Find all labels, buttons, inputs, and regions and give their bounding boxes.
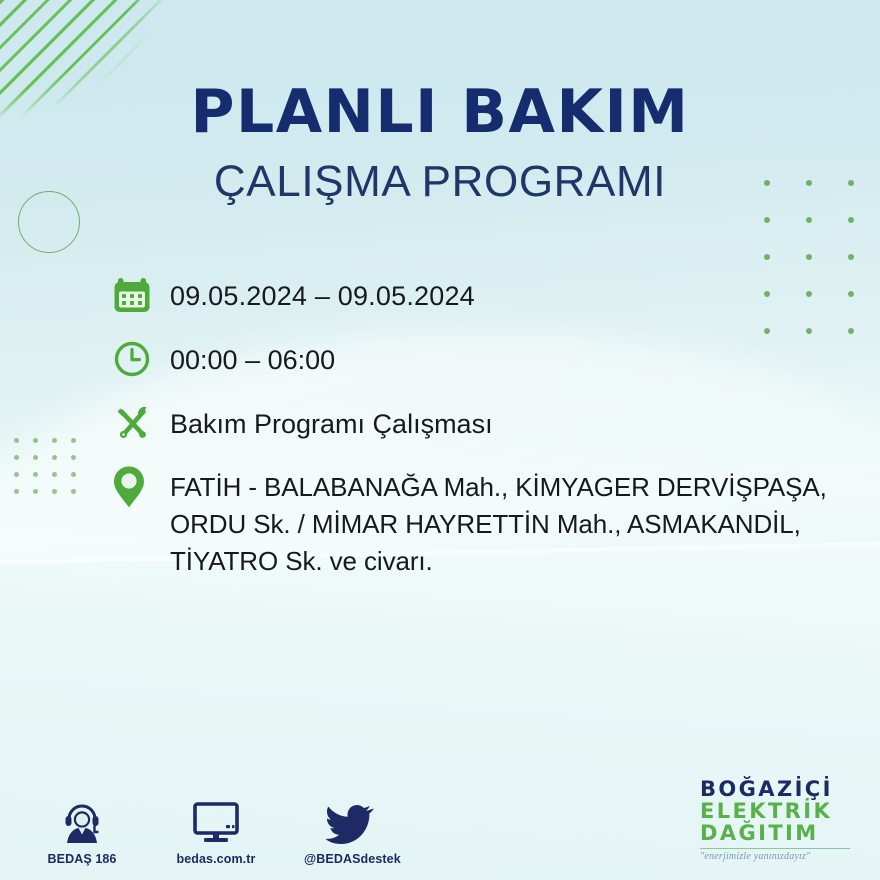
dot — [33, 455, 38, 460]
dot — [52, 489, 57, 494]
dot — [806, 217, 812, 223]
contact-twitter-label: @BEDASdestek — [304, 852, 396, 866]
dot — [764, 217, 770, 223]
contact-phone[interactable]: BEDAŞ 186 — [36, 797, 128, 866]
tools-icon — [112, 400, 170, 446]
dot — [52, 438, 57, 443]
dot — [764, 254, 770, 260]
dot — [71, 438, 76, 443]
detail-row-date: 09.05.2024 – 09.05.2024 — [112, 272, 872, 318]
planned-maintenance-poster: PLANLI BAKIM ÇALIŞMA PROGRAMI — [0, 0, 880, 880]
dot — [71, 455, 76, 460]
dot — [14, 438, 19, 443]
clock-icon — [112, 336, 170, 382]
dot — [33, 438, 38, 443]
contact-website[interactable]: bedas.com.tr — [170, 797, 262, 866]
dot — [71, 472, 76, 477]
twitter-bird-icon — [304, 797, 396, 845]
calendar-icon — [112, 272, 170, 318]
dot — [14, 455, 19, 460]
detail-row-location: FATİH - BALABANAĞA Mah., KİMYAGER DERVİŞ… — [112, 464, 872, 580]
dot — [52, 472, 57, 477]
contact-channels: BEDAŞ 186 bedas.com.tr — [36, 797, 396, 866]
dot — [806, 254, 812, 260]
contact-phone-label: BEDAŞ 186 — [36, 852, 128, 866]
maintenance-details: 09.05.2024 – 09.05.2024 00:00 – 06:00 — [112, 272, 872, 580]
contact-twitter[interactable]: @BEDASdestek — [304, 797, 396, 866]
page-title: PLANLI BAKIM — [0, 82, 880, 142]
detail-row-time: 00:00 – 06:00 — [112, 336, 872, 382]
dot — [33, 472, 38, 477]
brand-logo: BOĞAZİÇİ ELEKTRİK DAĞITIM "enerjimizle y… — [700, 778, 856, 862]
monitor-icon — [170, 797, 262, 845]
brand-line-bogazici: BOĞAZİÇİ — [700, 778, 856, 800]
dot — [14, 472, 19, 477]
detail-row-work-type: Bakım Programı Çalışması — [112, 400, 872, 446]
maintenance-location: FATİH - BALABANAĞA Mah., KİMYAGER DERVİŞ… — [170, 464, 870, 580]
dot-grid-decoration-left — [14, 438, 76, 494]
brand-line-elektrik: ELEKTRİK — [700, 800, 856, 822]
maintenance-date-range: 09.05.2024 – 09.05.2024 — [170, 272, 475, 315]
brand-line-dagitim: DAĞITIM — [700, 822, 856, 844]
brand-tagline: "enerjimizle yanınızdayız" — [700, 851, 856, 862]
dot — [52, 455, 57, 460]
map-pin-icon — [112, 464, 170, 510]
dot — [33, 489, 38, 494]
headset-support-icon — [36, 797, 128, 845]
maintenance-time-range: 00:00 – 06:00 — [170, 336, 335, 379]
contact-website-label: bedas.com.tr — [170, 852, 262, 866]
maintenance-work-type: Bakım Programı Çalışması — [170, 400, 493, 443]
dot — [14, 489, 19, 494]
page-subtitle: ÇALIŞMA PROGRAMI — [0, 160, 880, 204]
brand-divider — [700, 848, 850, 849]
dot — [848, 254, 854, 260]
dot — [848, 217, 854, 223]
poster-footer: BEDAŞ 186 bedas.com.tr — [0, 760, 880, 880]
poster-header: PLANLI BAKIM ÇALIŞMA PROGRAMI — [0, 82, 880, 204]
dot — [71, 489, 76, 494]
